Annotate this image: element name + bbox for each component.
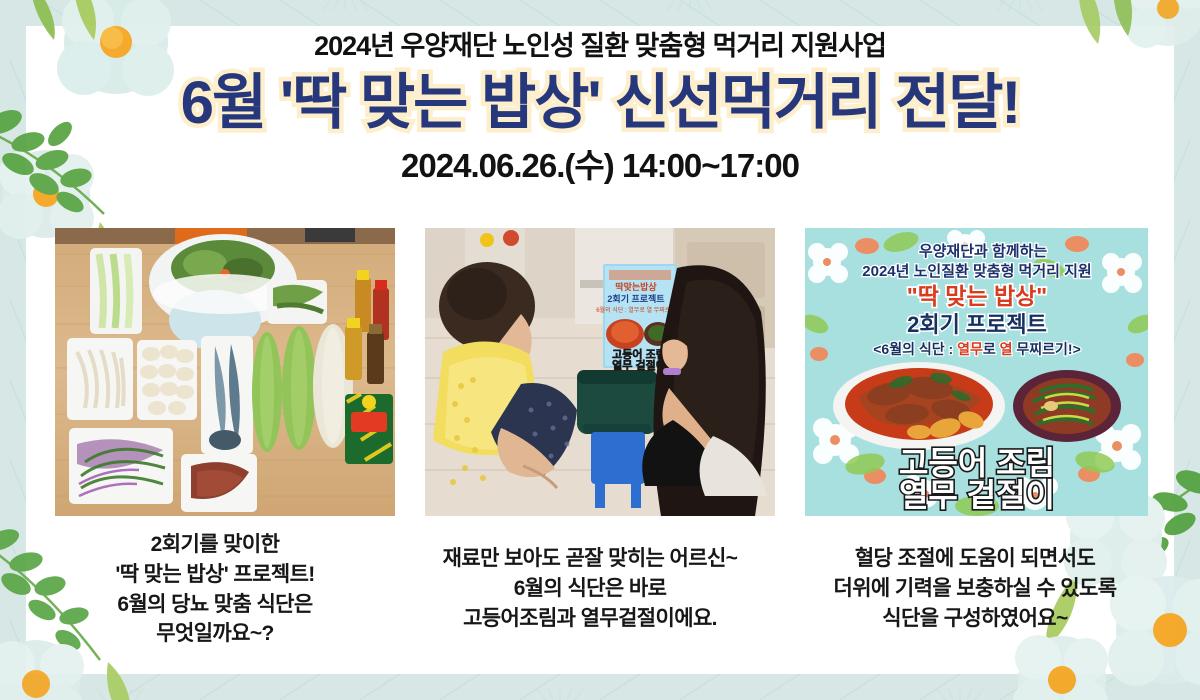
menu-card-photo: 우양재단과 함께하는 2024년 노인질환 맞춤형 먹거리 지원 "딱 맞는 밥… [805, 228, 1148, 516]
delivery-visit-photo: 딱맞는밥상 2회기 프로젝트 6월의 식단 : 열무로 열 무찌르기 고등어 조… [425, 228, 775, 516]
svg-text:열무 겉절이: 열무 겉절이 [899, 477, 1055, 513]
poster-canvas: 2024년 우양재단 노인성 질환 맞춤형 먹거리 지원사업 6월 '딱 맞는 … [0, 0, 1200, 700]
svg-text:6월의 식단 : 열무로 열 무찌르기: 6월의 식단 : 열무로 열 무찌르기 [596, 306, 676, 314]
caption-row: 2회기를 맞이한 '딱 맞는 밥상' 프로젝트! 6월의 당뇨 맞춤 식단은 무… [40, 530, 1160, 649]
program-subtitle: 2024년 우양재단 노인성 질환 맞춤형 먹거리 지원사업 [0, 30, 1200, 62]
svg-text:딱맞는밥상: 딱맞는밥상 [615, 281, 657, 292]
svg-text:우양재단과 함께하는: 우양재단과 함께하는 [919, 243, 1048, 260]
svg-text:2024년 노인질환 맞춤형 먹거리 지원: 2024년 노인질환 맞춤형 먹거리 지원 [862, 262, 1091, 280]
caption-fresh-ingredients: 2회기를 맞이한 '딱 맞는 밥상' 프로젝트! 6월의 당뇨 맞춤 식단은 무… [40, 530, 390, 649]
svg-text:<6월의 식단 : 열무로 열 무찌르기!>: <6월의 식단 : 열무로 열 무찌르기!> [873, 341, 1081, 357]
caption-delivery-visit: 재료만 보아도 곧잘 맞히는 어르신~ 6월의 식단은 바로 고등어조림과 열무… [400, 544, 780, 649]
fresh-ingredients-photo [55, 228, 395, 516]
photo-gallery: 딱맞는밥상 2회기 프로젝트 6월의 식단 : 열무로 열 무찌르기 고등어 조… [55, 228, 1148, 516]
headings-block: 2024년 우양재단 노인성 질환 맞춤형 먹거리 지원사업 6월 '딱 맞는 … [0, 30, 1200, 186]
svg-text:"딱 맞는 밥상": "딱 맞는 밥상" [907, 283, 1047, 309]
young-radish-kimchi-dish [1013, 370, 1121, 442]
svg-text:고등어 조림: 고등어 조림 [612, 347, 666, 361]
menu-card-dish-names: 고등어 조림 열무 겉절이 [899, 445, 1055, 513]
braised-mackerel-dish [833, 362, 1005, 450]
caption-menu-design: 혈당 조절에 도움이 되면서도 더위에 기력을 보충하실 수 있도록 식단을 구… [790, 544, 1160, 649]
event-datetime: 2024.06.26.(수) 14:00~17:00 [0, 146, 1200, 186]
svg-text:2회기 프로젝트: 2회기 프로젝트 [607, 293, 665, 304]
svg-text:고등어 조림: 고등어 조림 [899, 445, 1055, 481]
svg-text:2회기 프로젝트: 2회기 프로젝트 [907, 312, 1047, 337]
page-title: 6월 '딱 맞는 밥상' 신선먹거리 전달! [0, 68, 1200, 137]
